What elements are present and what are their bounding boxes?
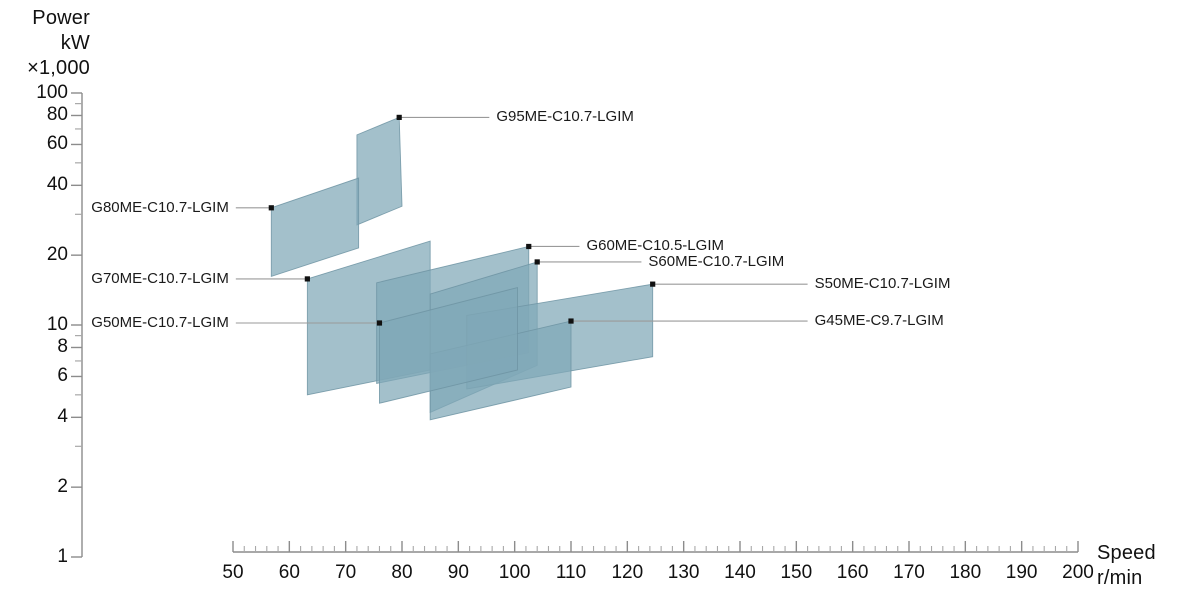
y-tick-label: 40 [8,174,68,196]
y-tick-label: 80 [8,104,68,126]
x-tick-label: 130 [654,562,714,584]
series-label: G60ME-C10.5-LGIM [586,237,724,254]
x-tick-label: 90 [428,562,488,584]
x-tick-label: 50 [203,562,263,584]
y-tick-label: 2 [8,476,68,498]
x-tick-label: 160 [823,562,883,584]
y-tick-label: 10 [8,314,68,336]
x-tick-label: 70 [316,562,376,584]
x-tick-label: 100 [485,562,545,584]
y-tick-label: 20 [8,244,68,266]
x-tick-label: 80 [372,562,432,584]
x-tick-label: 120 [597,562,657,584]
y-tick-label: 100 [8,82,68,104]
series-label: S60ME-C10.7-LGIM [648,253,784,270]
x-tick-label: 140 [710,562,770,584]
y-tick-label: 1 [8,546,68,568]
x-tick-label: 170 [879,562,939,584]
y-tick-label: 6 [8,365,68,387]
y-tick-label: 8 [8,336,68,358]
series-label: G45ME-C9.7-LGIM [815,312,944,329]
series-marker [397,115,402,120]
series-envelope [357,117,402,225]
series-label: S50ME-C10.7-LGIM [815,275,951,292]
series-marker [269,205,274,210]
series-envelope [271,178,358,276]
series-marker [568,318,573,323]
x-tick-label: 190 [992,562,1052,584]
x-tick-label: 150 [766,562,826,584]
chart-canvas: Power kW ×1,000 Speed r/min 124681020406… [0,0,1200,600]
series-marker [535,259,540,264]
y-tick-label: 4 [8,406,68,428]
series-polygons [271,117,652,419]
x-tick-label: 180 [935,562,995,584]
plot-area [0,0,1200,600]
x-axis [233,541,1078,552]
series-marker [305,276,310,281]
x-tick-label: 60 [259,562,319,584]
y-axis [71,93,82,557]
series-marker [650,282,655,287]
series-marker [377,320,382,325]
series-label: G50ME-C10.7-LGIM [91,314,229,331]
series-label: G95ME-C10.7-LGIM [496,108,634,125]
series-marker [526,244,531,249]
series-label: G70ME-C10.7-LGIM [91,270,229,287]
y-tick-label: 60 [8,133,68,155]
series-label: G80ME-C10.7-LGIM [91,199,229,216]
x-tick-label: 200 [1048,562,1108,584]
x-tick-label: 110 [541,562,601,584]
